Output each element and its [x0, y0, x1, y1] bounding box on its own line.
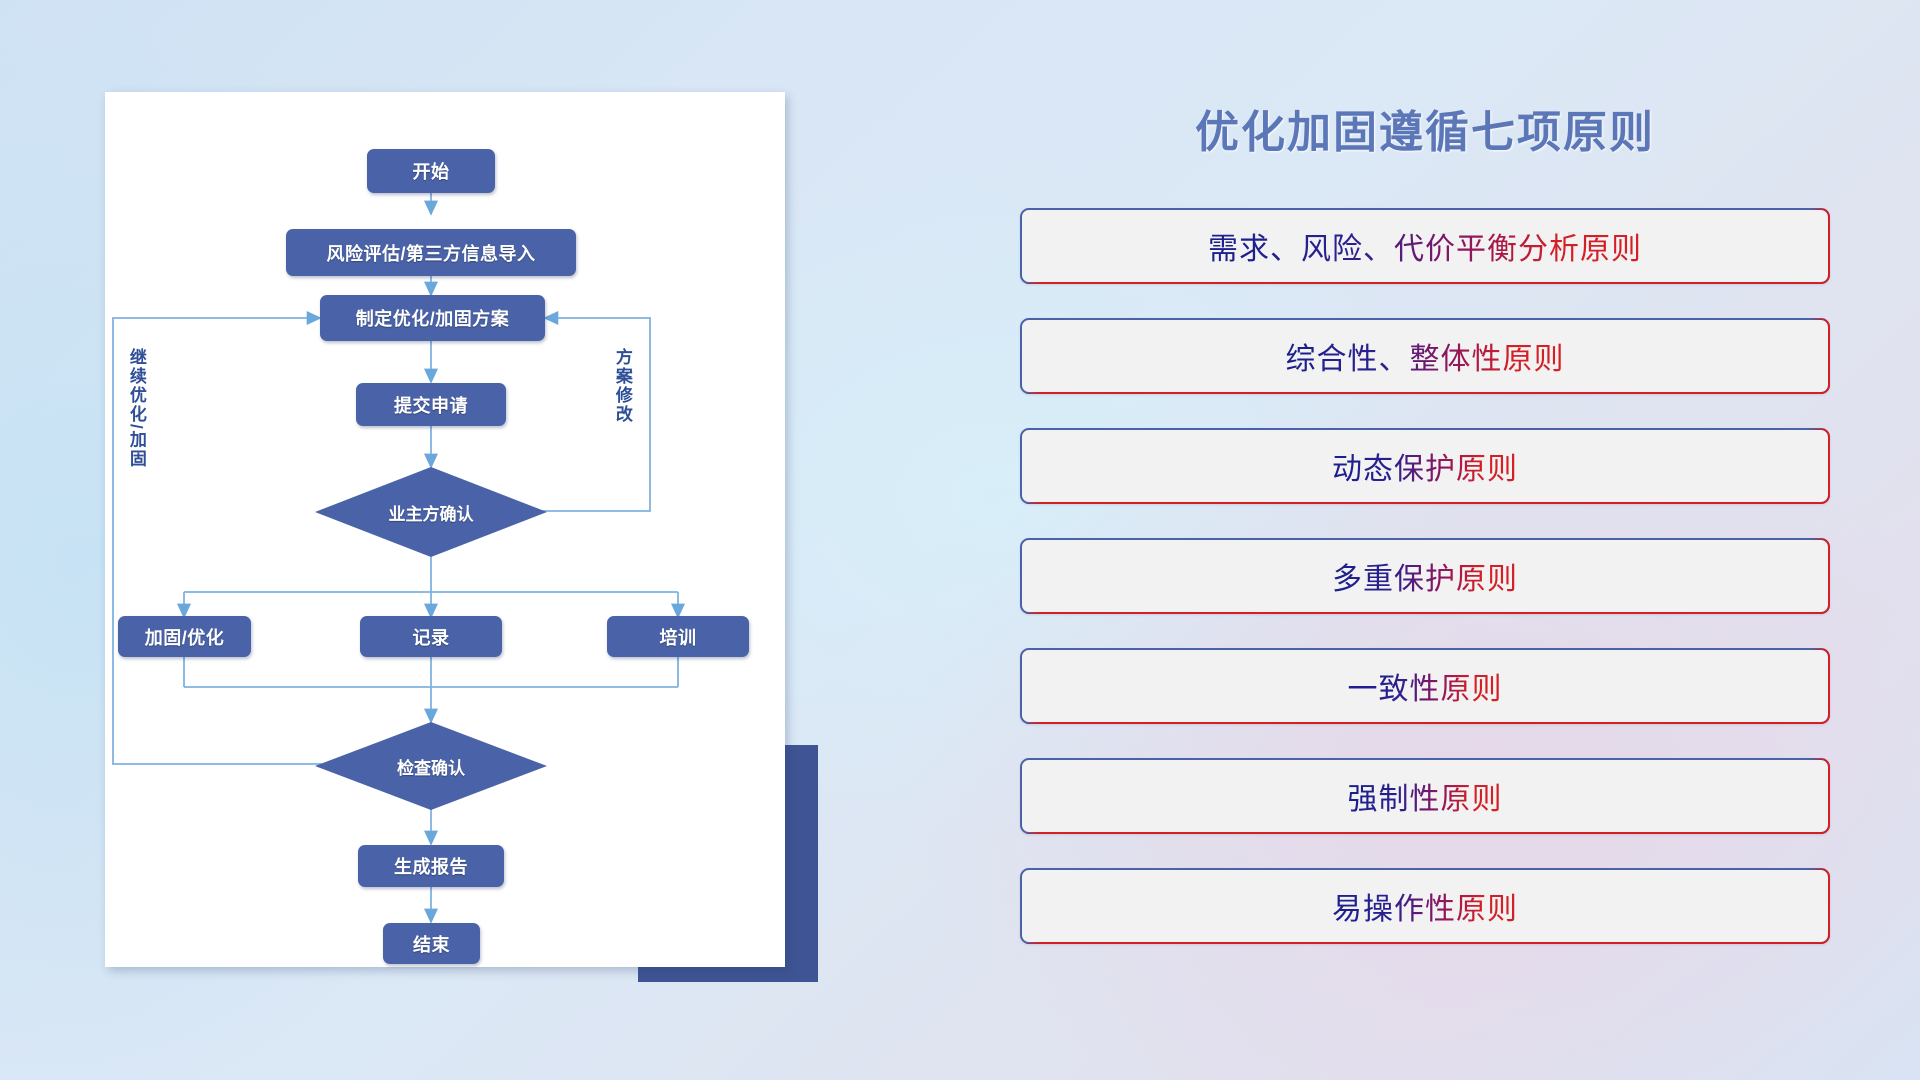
flow-node-make-plan[interactable]: 制定优化/加固方案 — [320, 295, 545, 341]
flow-node-reinforce-optimize[interactable]: 加固/优化 — [118, 616, 251, 657]
flowchart-card: 开始 风险评估/第三方信息导入 制定优化/加固方案 提交申请 业主方确认 加固/… — [105, 92, 785, 967]
flow-node-generate-report[interactable]: 生成报告 — [358, 845, 504, 887]
principle-card-4[interactable]: 多重保护原则 — [1020, 538, 1830, 614]
flow-node-label: 检查确认 — [397, 754, 465, 779]
flow-node-risk-assessment[interactable]: 风险评估/第三方信息导入 — [286, 229, 576, 276]
flow-node-start[interactable]: 开始 — [367, 149, 495, 193]
flow-node-submit-application[interactable]: 提交申请 — [356, 383, 506, 426]
flow-node-label: 结束 — [413, 931, 450, 957]
flow-node-label: 制定优化/加固方案 — [356, 305, 510, 331]
principle-label: 一致性原则 — [1348, 664, 1503, 708]
principle-card-5[interactable]: 一致性原则 — [1020, 648, 1830, 724]
panel-title: 优化加固遵循七项原则 — [1020, 96, 1830, 160]
principle-label: 动态保护原则 — [1332, 444, 1518, 488]
flow-node-end[interactable]: 结束 — [383, 923, 480, 964]
principle-card-3[interactable]: 动态保护原则 — [1020, 428, 1830, 504]
principle-label: 需求、风险、代价平衡分析原则 — [1208, 224, 1642, 268]
principle-card-7[interactable]: 易操作性原则 — [1020, 868, 1830, 944]
flow-node-record[interactable]: 记录 — [360, 616, 502, 657]
principle-card-2[interactable]: 综合性、整体性原则 — [1020, 318, 1830, 394]
principle-card-6[interactable]: 强制性原则 — [1020, 758, 1830, 834]
flow-node-training[interactable]: 培训 — [607, 616, 749, 657]
principle-label: 强制性原则 — [1348, 774, 1503, 818]
principle-card-1[interactable]: 需求、风险、代价平衡分析原则 — [1020, 208, 1830, 284]
edge-label-plan-revision: 方案修改 — [613, 348, 631, 458]
flow-node-label: 加固/优化 — [145, 624, 225, 650]
flow-node-label: 提交申请 — [394, 392, 468, 418]
flow-node-label: 记录 — [413, 624, 450, 650]
principle-label: 易操作性原则 — [1332, 884, 1518, 928]
flow-node-label: 开始 — [413, 158, 450, 184]
principle-label: 综合性、整体性原则 — [1286, 334, 1565, 378]
flow-node-label: 风险评估/第三方信息导入 — [327, 240, 536, 266]
flow-node-label: 业主方确认 — [389, 500, 474, 525]
edge-label-continue-optimize: 继续优化/加固 — [127, 348, 145, 498]
flow-node-label: 培训 — [660, 624, 697, 650]
principles-panel: 优化加固遵循七项原则 需求、风险、代价平衡分析原则 综合性、整体性原则 动态保护… — [1020, 96, 1830, 996]
flow-node-label: 生成报告 — [394, 853, 468, 879]
principle-label: 多重保护原则 — [1332, 554, 1518, 598]
